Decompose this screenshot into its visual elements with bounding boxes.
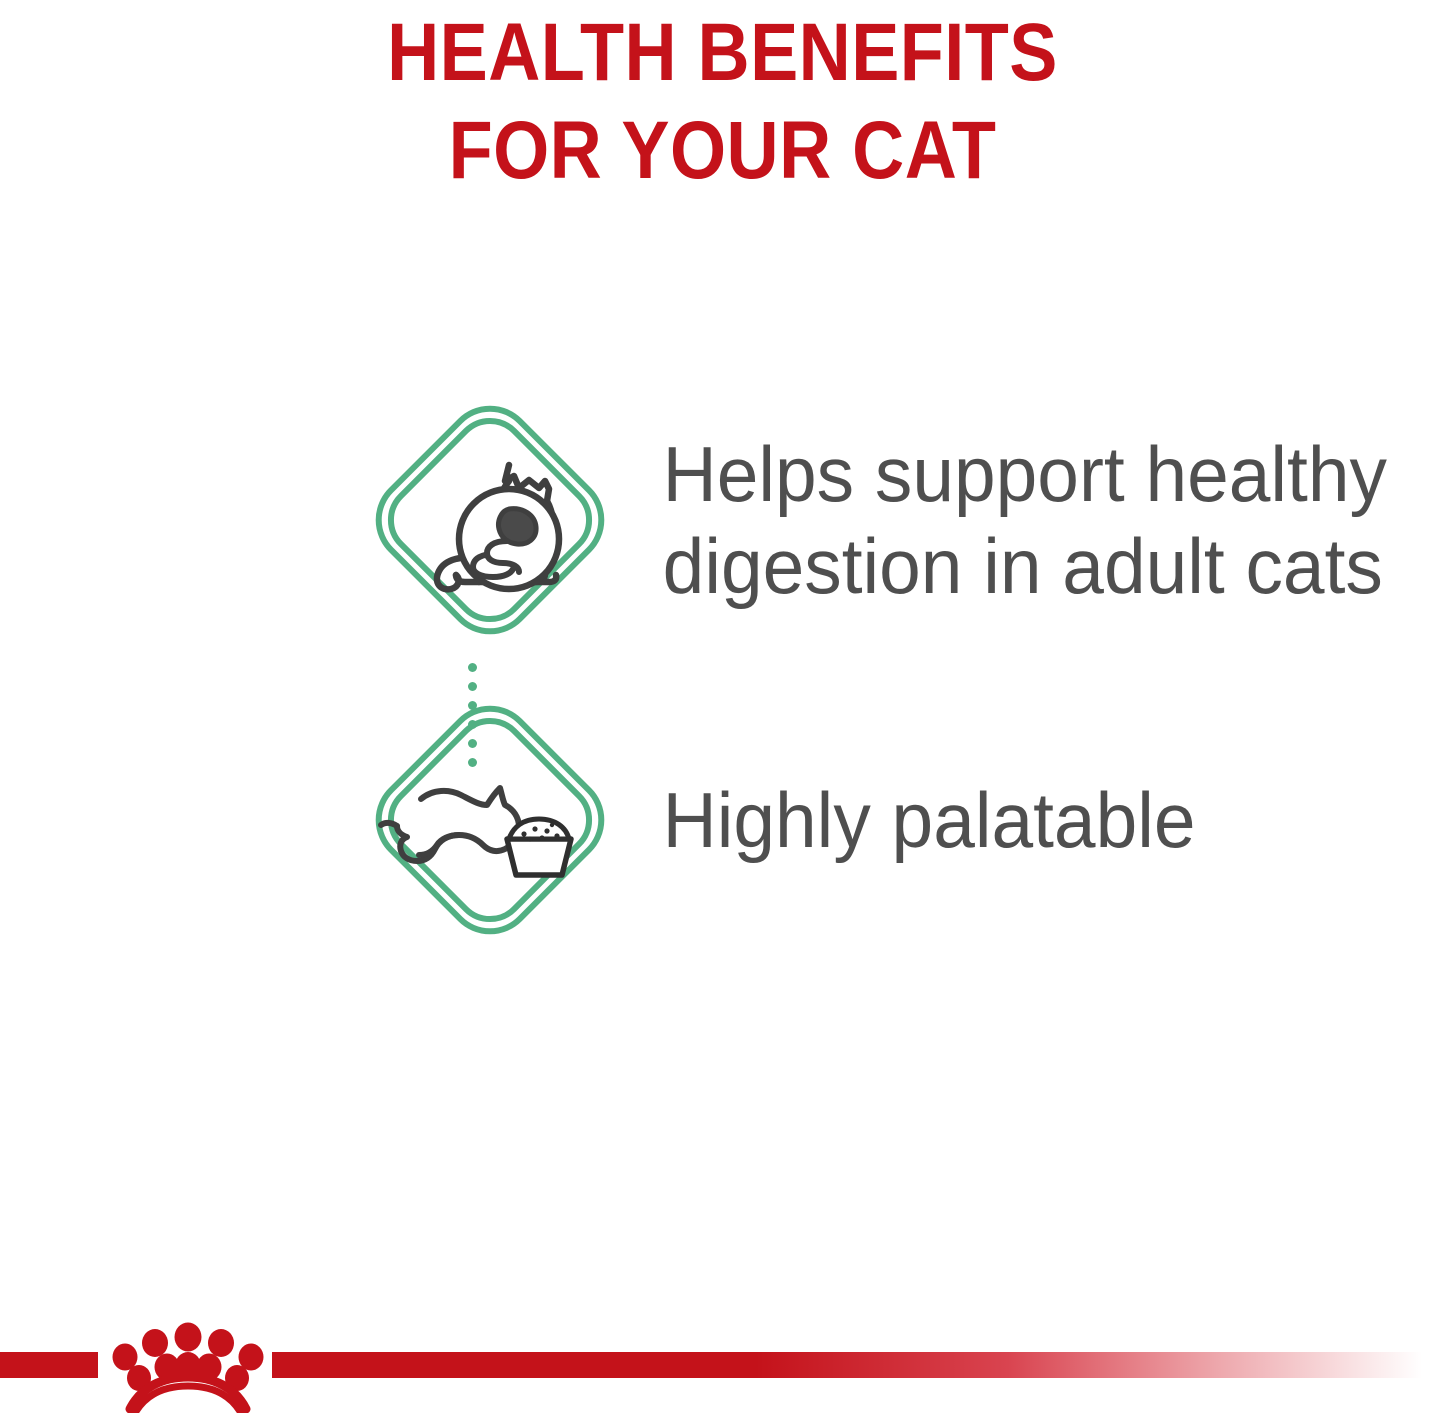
benefit-text-digestion: Helps support healthy digestion in adult… — [655, 428, 1392, 612]
benefit-item-digestion: Helps support healthy digestion in adult… — [0, 370, 1445, 670]
benefit-icon-cell-palatability — [325, 670, 655, 970]
royal-canin-crown-logo — [103, 1317, 273, 1413]
page-title-line-1: HEALTH BENEFITS — [87, 4, 1359, 102]
benefit-icon-cell-digestion — [325, 370, 655, 670]
page-header: HEALTH BENEFITS FOR YOUR CAT — [0, 0, 1445, 210]
cat-digestion-icon — [359, 389, 621, 651]
cat-eating-bowl-icon — [359, 689, 621, 951]
benefit-item-palatability: Highly palatable — [0, 670, 1445, 970]
health-benefits-panel: HEALTH BENEFITS FOR YOUR CAT — [0, 0, 1445, 1417]
footer-bar-left — [0, 1352, 98, 1378]
benefits-list: Helps support healthy digestion in adult… — [0, 370, 1445, 970]
page-title-line-2: FOR YOUR CAT — [87, 102, 1359, 200]
footer-bar-right — [272, 1352, 1422, 1378]
benefit-text-palatability: Highly palatable — [655, 774, 1196, 866]
page-footer — [0, 1317, 1445, 1417]
